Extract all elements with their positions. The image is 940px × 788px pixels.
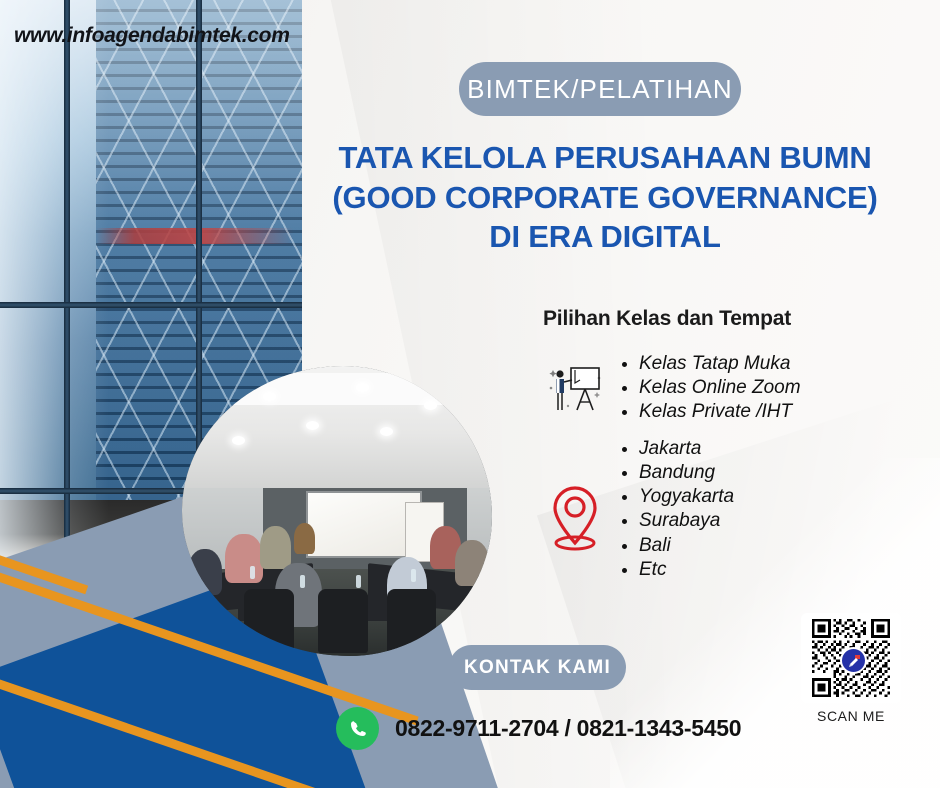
water-bottle: [356, 575, 361, 588]
chair: [318, 589, 368, 653]
whatsapp-phone-icon[interactable]: [336, 707, 379, 750]
list-item: Kelas Private /IHT: [639, 400, 801, 424]
title-line-3: DI ERA DIGITAL: [305, 217, 905, 257]
title-line-1: TATA KELOLA PERUSAHAAN BUMN: [305, 138, 905, 178]
attendee-figure: [188, 549, 222, 595]
water-bottle: [250, 566, 255, 579]
ceiling-light: [424, 401, 437, 410]
ceiling-recess: [219, 373, 455, 405]
website-url: www.infoagendabimtek.com: [14, 24, 290, 48]
attendee-figure: [225, 534, 262, 583]
water-bottle: [300, 575, 305, 588]
contact-badge: KONTAK KAMI: [449, 645, 626, 690]
presenter-whiteboard-icon: [537, 352, 613, 420]
room-ceiling: [182, 366, 492, 488]
brand-logo-icon: [840, 647, 867, 674]
title-line-2: (GOOD CORPORATE GOVERNANCE): [305, 178, 905, 218]
city-options-group: Jakarta Bandung Yogyakarta Surabaya Bali…: [537, 437, 734, 582]
window-mullion-horizontal: [0, 302, 302, 308]
list-item: Yogyakarta: [639, 485, 734, 509]
ceiling-light: [263, 392, 276, 401]
chair: [244, 589, 294, 653]
bimtek-badge-label: BIMTEK/PELATIHAN: [467, 74, 733, 105]
chair: [387, 589, 437, 653]
class-options-group: Kelas Tatap Muka Kelas Online Zoom Kelas…: [537, 352, 801, 424]
list-item: Kelas Online Zoom: [639, 376, 801, 400]
presenter-figure: [294, 523, 316, 555]
contact-badge-label: KONTAK KAMI: [464, 657, 611, 679]
bimtek-badge: BIMTEK/PELATIHAN: [459, 62, 741, 116]
list-item: Bandung: [639, 461, 734, 485]
ceiling-light: [232, 436, 245, 445]
map-pin-icon: [537, 437, 613, 555]
list-item: Bali: [639, 534, 734, 558]
list-item: Kelas Tatap Muka: [639, 352, 801, 376]
city-list: Jakarta Bandung Yogyakarta Surabaya Bali…: [613, 437, 734, 582]
qr-code-card[interactable]: SCAN ME: [799, 613, 903, 724]
phone-contact-row[interactable]: 0822-9711-2704 / 0821-1343-5450: [336, 707, 741, 750]
list-item: Surabaya: [639, 509, 734, 533]
list-item: Jakarta: [639, 437, 734, 461]
promo-flyer: www.infoagendabimtek.com: [0, 0, 940, 788]
page-title: TATA KELOLA PERUSAHAAN BUMN (GOOD CORPOR…: [305, 138, 905, 257]
water-bottle: [411, 569, 416, 582]
training-room-photo: [182, 366, 492, 656]
phone-numbers: 0822-9711-2704 / 0821-1343-5450: [395, 715, 741, 742]
attendee-figure: [260, 526, 291, 570]
qr-caption: SCAN ME: [799, 708, 903, 724]
attendee-figure: [455, 540, 489, 586]
class-options-list: Kelas Tatap Muka Kelas Online Zoom Kelas…: [613, 352, 801, 424]
qr-code-image[interactable]: [801, 613, 901, 703]
list-item: Etc: [639, 558, 734, 582]
options-heading: Pilihan Kelas dan Tempat: [543, 307, 791, 331]
